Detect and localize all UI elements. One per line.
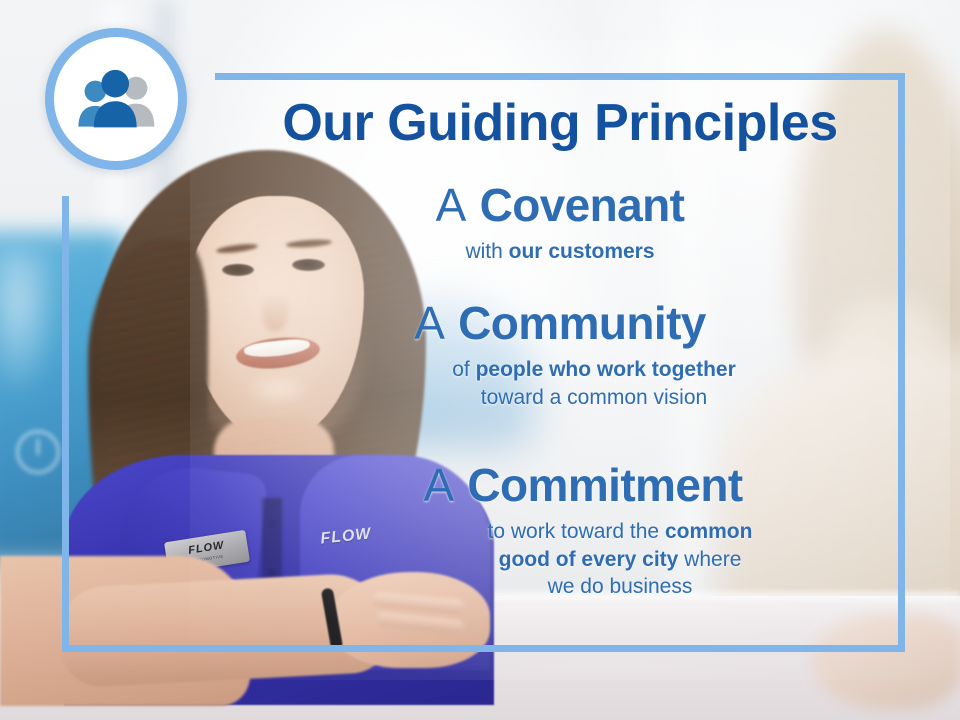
frame-border-top: [215, 73, 905, 80]
page-title: Our Guiding Principles: [215, 96, 905, 151]
photo-display-highlight: [0, 250, 60, 400]
detail-text: with: [465, 240, 508, 263]
frame-border-left: [62, 196, 69, 652]
detail-text-bold: common: [665, 520, 753, 543]
principle-word-commitment: Commitment: [467, 459, 742, 511]
principle-detail-commitment: to work toward the commongood of every c…: [215, 518, 905, 601]
principle-lead-covenant: A: [436, 179, 467, 231]
detail-text: we do business: [548, 575, 693, 598]
people-group-icon: [70, 68, 162, 130]
detail-text-bold: our customers: [509, 240, 655, 263]
principle-headline-commitment: A Commitment: [215, 462, 905, 509]
principle-detail-community: of people who work togethertoward a comm…: [215, 356, 905, 411]
principle-headline-covenant: A Covenant: [215, 182, 905, 229]
detail-line: toward a common vision: [283, 384, 905, 412]
detail-line: we do business: [335, 573, 905, 601]
principle-headline-community: A Community: [215, 300, 905, 347]
principle-detail-covenant: with our customers: [215, 238, 905, 266]
principle-block-community: A Community of people who work togethert…: [215, 300, 905, 411]
detail-line: of people who work together: [283, 356, 905, 384]
detail-line: good of every city where: [335, 546, 905, 574]
principle-lead-community: A: [414, 297, 445, 349]
principle-word-community: Community: [458, 297, 706, 349]
principle-block-commitment: A Commitment to work toward the commongo…: [215, 462, 905, 601]
detail-text: of: [452, 358, 475, 381]
detail-text-bold: people who work together: [476, 358, 736, 381]
detail-text-bold: good of every city: [499, 548, 679, 571]
detail-text: toward a common vision: [481, 386, 707, 409]
principle-block-covenant: A Covenant with our customers: [215, 182, 905, 266]
frame-border-bottom: [62, 645, 905, 652]
principle-lead-commitment: A: [423, 459, 454, 511]
photo-second-person-hand: [812, 614, 960, 710]
detail-line: to work toward the common: [335, 518, 905, 546]
guiding-principles-badge: [45, 28, 187, 170]
guiding-principles-poster: FLOW AUTOMOTIVE FLOW Our Gu: [0, 0, 960, 720]
detail-line: with our customers: [215, 238, 905, 266]
principle-word-covenant: Covenant: [480, 179, 685, 231]
detail-text: to work toward the: [488, 520, 665, 543]
photo-brand-emblem-icon: [16, 430, 60, 474]
detail-text: where: [678, 548, 741, 571]
